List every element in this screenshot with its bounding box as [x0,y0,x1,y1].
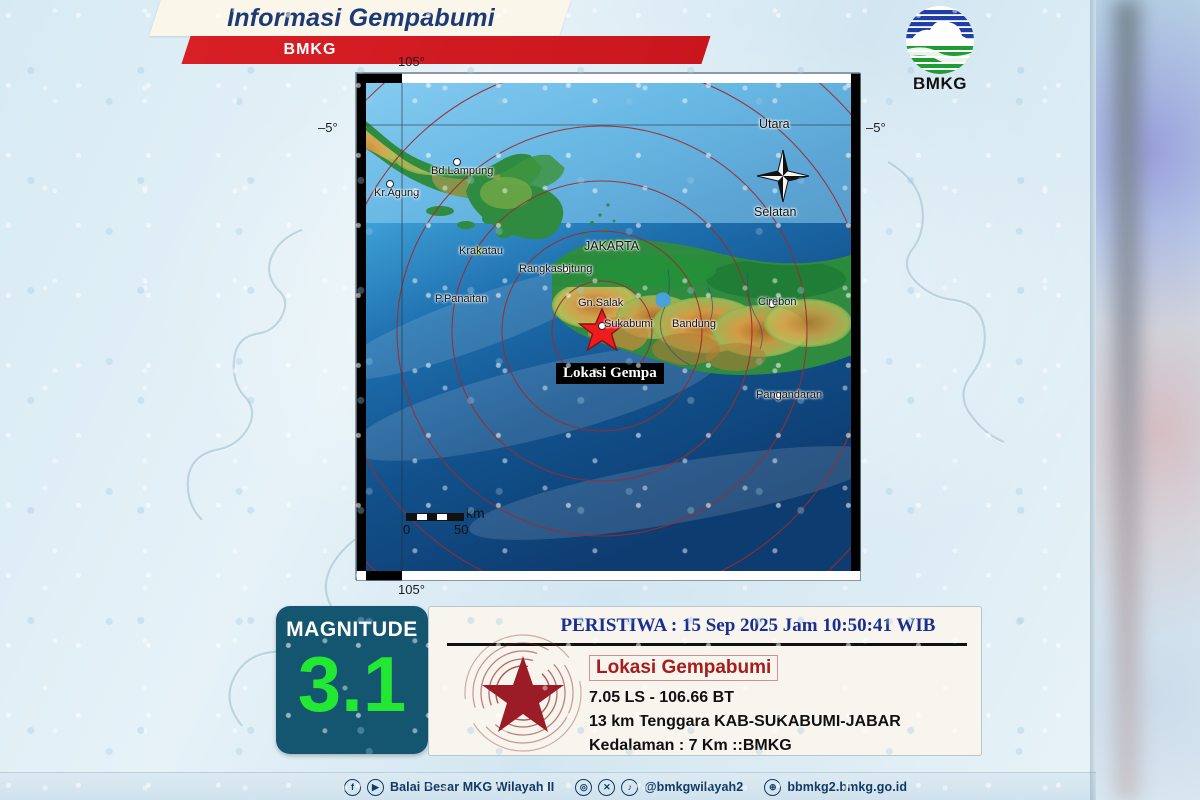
footer-bar: f ▶ Balai Besar MKG Wilayah II ◎ ✕ ♪ @bm… [0,772,1096,800]
decorative-island-outline [10,210,310,550]
map-place-label: Pangandaran [756,389,822,401]
magnitude-panel: MAGNITUDE 3.1 [276,606,428,754]
info-card: Informasi Gempabumi BMKG [0,0,1096,800]
earthquake-map[interactable]: Utara Selatan Kr.Agung Bd.Lampung Krakat… [355,72,860,580]
map-place-label: Bd.Lampung [431,165,493,177]
bmkg-logo-label: BMKG [898,74,982,94]
page-title: Informasi Gempabumi [196,2,526,34]
x-twitter-icon[interactable]: ✕ [598,779,615,796]
map-canvas: Utara Selatan Kr.Agung Bd.Lampung Krakat… [356,73,861,581]
magnitude-label: MAGNITUDE [276,618,428,642]
card-right-edge [1090,0,1096,800]
event-depth: Kedalaman : 7 Km ::BMKG [589,737,792,755]
event-region: 13 km Tenggara KAB-SUKABUMI-JABAR [589,713,901,731]
location-title: Lokasi Gempabumi [589,655,778,681]
tiktok-icon[interactable]: ♪ [621,779,638,796]
axis-label-lon-top: 105° [398,54,425,69]
footer-handle: @bmkgwilayah2 [644,780,743,794]
event-coordinates: 7.05 LS - 106.66 BT [589,689,734,707]
scale-min-label: 0 [403,522,410,537]
seismic-star-icon [462,632,584,754]
epicenter-callout-label: Lokasi Gempa [556,363,664,384]
compass-north-label: Utara [759,117,790,131]
backdrop-pole-blur [1114,0,1140,800]
bmkg-logo-icon [906,6,974,74]
map-place-label: JAKARTA [584,239,639,253]
scale-unit-label: km [466,505,485,521]
map-place-label: P.Panaitan [435,293,487,305]
map-scale-bar: km 0 50 [406,513,464,521]
globe-icon[interactable]: ⊕ [764,779,781,796]
footer-social-row: f ▶ Balai Besar MKG Wilayah II ◎ ✕ ♪ @bm… [344,776,907,798]
footer-account-name: Balai Besar MKG Wilayah II [390,780,554,794]
map-place-label: Cirebon [758,296,797,308]
magnitude-value: 3.1 [276,642,428,726]
map-place-label: Kr.Agung [374,187,419,199]
map-place-label: Sukabumi [604,318,653,330]
agency-band-label: BMKG [240,38,380,62]
event-headline: PERISTIWA : 15 Sep 2025 Jam 10:50:41 WIB [533,615,963,637]
map-place-label: Bandung [672,318,716,330]
map-place-label: Rangkasbitung [519,263,592,275]
youtube-icon[interactable]: ▶ [367,779,384,796]
axis-label-lat-left: –5° [318,120,338,135]
instagram-icon[interactable]: ◎ [575,779,592,796]
axis-label-lon-bottom: 105° [398,582,425,597]
axis-label-lat-right: –5° [866,120,886,135]
bmkg-logo: BMKG [898,6,982,98]
earthquake-info-graphic: Informasi Gempabumi BMKG [0,0,1200,800]
map-place-label: Gn.Salak [578,297,623,309]
facebook-icon[interactable]: f [344,779,361,796]
scale-max-label: 50 [454,522,468,537]
footer-website[interactable]: bbmkg2.bmkg.go.id [787,780,907,794]
decorative-island-outline-3 [880,150,1096,590]
compass-south-label: Selatan [754,205,796,219]
map-place-label: Krakatau [459,245,503,257]
